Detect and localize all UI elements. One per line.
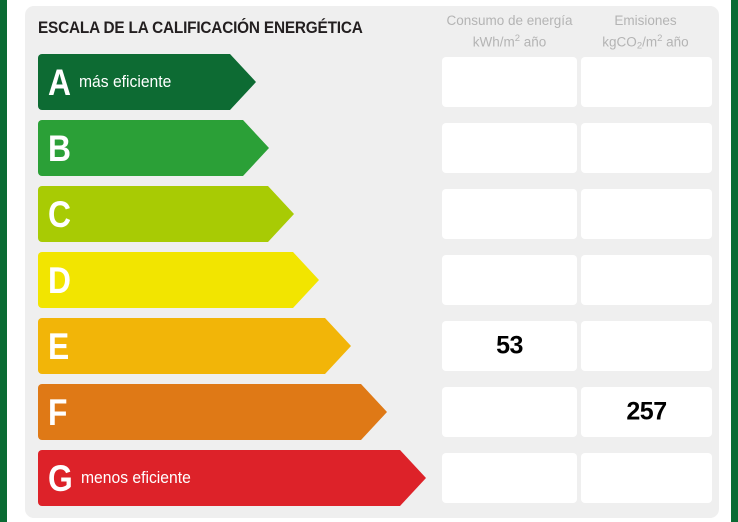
rating-letter: G xyxy=(48,460,73,497)
emisiones-cell xyxy=(581,57,712,107)
rating-arrow-tip xyxy=(400,450,426,506)
rating-letter: E xyxy=(48,328,69,365)
emisiones-cell xyxy=(581,189,712,239)
column-header-consumo-line1: Consumo de energía xyxy=(446,13,572,28)
rating-rows: Amás eficienteBCDE53F257Gmenos eficiente xyxy=(25,54,719,518)
consumo-value: 53 xyxy=(442,332,577,361)
consumo-cell xyxy=(442,387,577,437)
rating-row: F257 xyxy=(25,384,719,440)
rating-caption: menos eficiente xyxy=(81,469,191,487)
rating-caption: más eficiente xyxy=(79,73,171,91)
rating-scale-panel: ESCALA DE LA CALIFICACIÓN ENERGÉTICA Con… xyxy=(25,6,719,518)
rating-arrow-tip xyxy=(230,54,256,110)
emisiones-cell xyxy=(581,321,712,371)
rating-band-c: C xyxy=(38,186,268,242)
rating-row: C xyxy=(25,186,719,242)
consumo-unit-prefix: kWh/m xyxy=(473,35,515,50)
rating-band-e: E xyxy=(38,318,325,374)
rating-letter: A xyxy=(48,64,71,101)
rating-letter: C xyxy=(48,196,71,233)
rating-row: Gmenos eficiente xyxy=(25,450,719,506)
rating-row: E53 xyxy=(25,318,719,374)
rating-band-g: Gmenos eficiente xyxy=(38,450,400,506)
column-header-emisiones-line1: Emisiones xyxy=(614,13,676,28)
rating-arrow-tip xyxy=(325,318,351,374)
rating-row: B xyxy=(25,120,719,176)
energy-certificate-frame: ESCALA DE LA CALIFICACIÓN ENERGÉTICA Con… xyxy=(0,0,738,522)
emisiones-cell xyxy=(581,453,712,503)
emisiones-cell xyxy=(581,255,712,305)
consumo-unit-suffix: año xyxy=(520,35,546,50)
consumo-cell xyxy=(442,123,577,173)
rating-row: D xyxy=(25,252,719,308)
emisiones-cell xyxy=(581,123,712,173)
consumo-cell xyxy=(442,255,577,305)
rating-band-f: F xyxy=(38,384,361,440)
emisiones-unit-prefix: kgCO xyxy=(602,35,637,50)
rating-band-d: D xyxy=(38,252,293,308)
rating-letter: D xyxy=(48,262,71,299)
rating-band-a: Amás eficiente xyxy=(38,54,230,110)
column-header-emisiones-line2: kgCO2/m2 año xyxy=(580,30,711,56)
column-header-consumo-line2: kWh/m2 año xyxy=(442,30,577,52)
consumo-cell xyxy=(442,189,577,239)
consumo-cell xyxy=(442,453,577,503)
rating-arrow-tip xyxy=(243,120,269,176)
page-title: ESCALA DE LA CALIFICACIÓN ENERGÉTICA xyxy=(38,19,363,38)
emisiones-unit-suffix: año xyxy=(662,35,688,50)
rating-letter: B xyxy=(48,130,71,167)
rating-row: Amás eficiente xyxy=(25,54,719,110)
rating-band-b: B xyxy=(38,120,243,176)
consumo-cell: 53 xyxy=(442,321,577,371)
rating-arrow-tip xyxy=(293,252,319,308)
column-header-consumo: Consumo de energía kWh/m2 año xyxy=(442,12,577,52)
rating-arrow-tip xyxy=(268,186,294,242)
column-header-emisiones: Emisiones kgCO2/m2 año xyxy=(580,12,711,56)
consumo-cell xyxy=(442,57,577,107)
emisiones-unit-middle: /m xyxy=(642,35,657,50)
emisiones-value: 257 xyxy=(581,398,712,427)
rating-arrow-tip xyxy=(361,384,387,440)
panel-header: ESCALA DE LA CALIFICACIÓN ENERGÉTICA Con… xyxy=(25,6,719,54)
rating-letter: F xyxy=(48,394,67,431)
emisiones-cell: 257 xyxy=(581,387,712,437)
